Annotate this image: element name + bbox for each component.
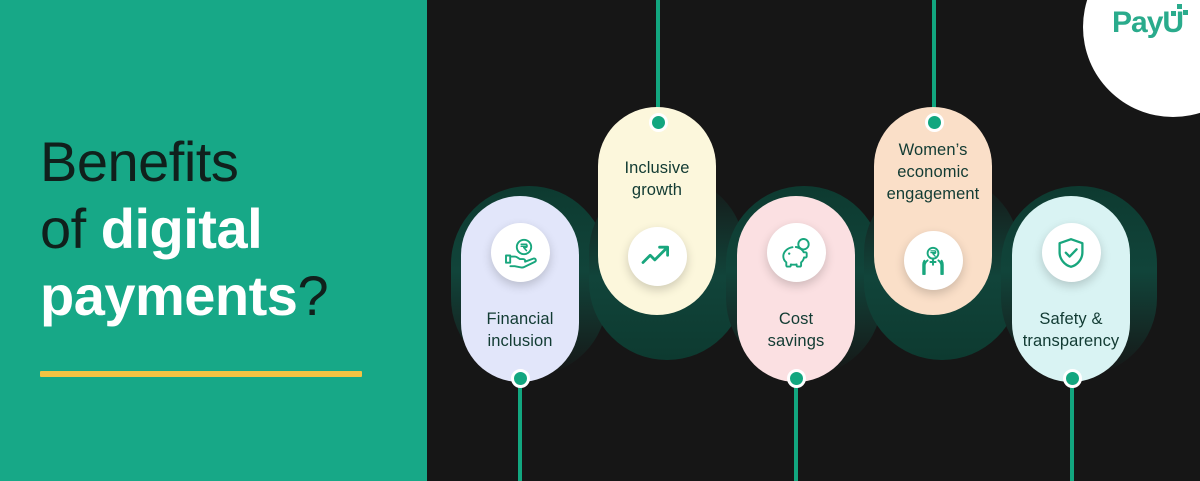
connector-node-4 — [925, 113, 944, 132]
title-underline — [40, 371, 362, 377]
connector-node-5 — [1063, 369, 1082, 388]
benefit-label-inclusive-growth: Inclusive growth — [624, 157, 689, 201]
title-question-mark: ? — [297, 264, 328, 327]
piggy-bank-icon — [767, 223, 826, 282]
trending-up-arrow-icon — [628, 227, 687, 286]
benefit-label-cost-savings: Cost savings — [768, 308, 825, 352]
connector-node-2 — [649, 113, 668, 132]
brand-logo-dots-icon — [1168, 4, 1190, 24]
title-line-2: of digital — [40, 195, 410, 262]
connector-stem-5 — [1070, 378, 1074, 481]
connector-node-3 — [787, 369, 806, 388]
left-title-panel: Benefits of digital payments? — [0, 0, 427, 481]
benefit-card-financial-inclusion[interactable]: Financial inclusion — [461, 196, 579, 382]
benefit-card-inclusive-growth[interactable]: Inclusive growth — [598, 107, 716, 315]
connector-stem-2 — [656, 0, 660, 122]
connector-stem-3 — [794, 378, 798, 481]
connector-node-1 — [511, 369, 530, 388]
benefit-card-cost-savings[interactable]: Cost savings — [737, 196, 855, 382]
benefit-label-womens-economic-engagement: Women’s economic engagement — [887, 139, 980, 205]
benefit-label-safety-transparency: Safety & transparency — [1023, 308, 1120, 352]
title-line-2-prefix: of — [40, 197, 101, 260]
page-title: Benefits of digital payments? — [40, 128, 410, 329]
benefit-card-safety-transparency[interactable]: Safety & transparency — [1012, 196, 1130, 382]
title-line-2-bold: digital — [101, 197, 262, 260]
title-line-1: Benefits — [40, 128, 410, 195]
connector-stem-1 — [518, 378, 522, 481]
hand-holding-rupee-coin-icon — [491, 223, 550, 282]
shield-check-icon — [1042, 223, 1101, 282]
benefit-label-financial-inclusion: Financial inclusion — [487, 308, 554, 352]
infographic-canvas: Benefits of digital payments? PayU Finan… — [0, 0, 1200, 481]
benefit-card-womens-economic-engagement[interactable]: Women’s economic engagement — [874, 107, 992, 315]
hands-holding-female-rupee-icon — [904, 231, 963, 290]
connector-stem-4 — [932, 0, 936, 122]
brand-name-part1: Pay — [1112, 6, 1162, 39]
title-line-3: payments? — [40, 262, 410, 329]
title-line-3-bold: payments — [40, 264, 297, 327]
